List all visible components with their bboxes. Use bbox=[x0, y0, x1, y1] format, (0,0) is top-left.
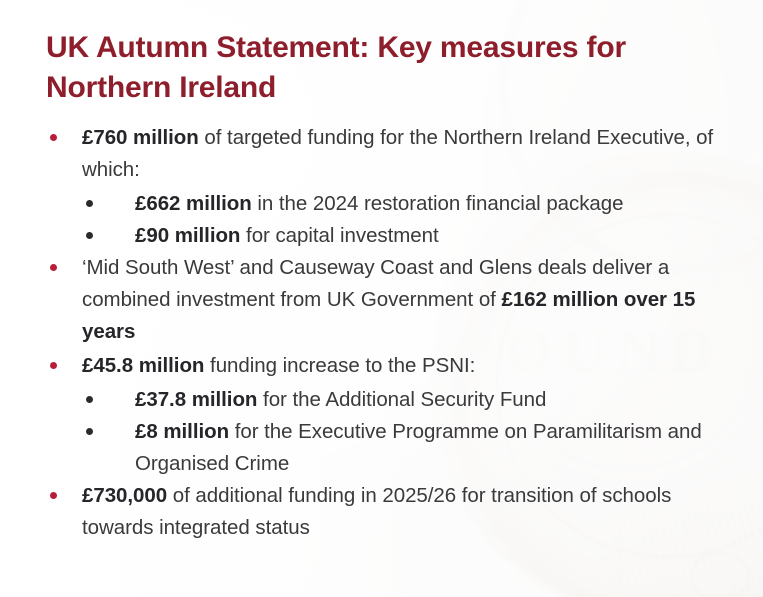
sub-bullet-item-label: £37.8 million for the Additional Securit… bbox=[135, 384, 739, 416]
sub-bullet-item-label: £662 million in the 2024 restoration fin… bbox=[135, 188, 739, 220]
body-text: for the Additional Security Fund bbox=[257, 388, 546, 411]
sub-bullet-item-restoration-financial-package: £662 million in the 2024 restoration fin… bbox=[0, 188, 763, 220]
sub-bullet-item-label: £90 million for capital investment bbox=[135, 220, 739, 252]
bullet-item-label: £760 million of targeted funding for the… bbox=[82, 122, 739, 186]
body-text: for capital investment bbox=[240, 224, 438, 247]
body-text: funding increase to the PSNI: bbox=[204, 354, 475, 377]
emphasis-amount: £90 million bbox=[135, 224, 240, 247]
slide-title: UK Autumn Statement: Key measures for No… bbox=[46, 28, 736, 108]
bullet-item-integrated-schools: £730,000 of additional funding in 2025/2… bbox=[0, 480, 763, 544]
slide-canvas: OUND UK Autumn Statement: Key measures f… bbox=[0, 0, 763, 597]
bullet-item-psni-funding: £45.8 million funding increase to the PS… bbox=[0, 350, 763, 382]
bullet-dot-icon bbox=[50, 264, 57, 271]
bullet-item-label: £45.8 million funding increase to the PS… bbox=[82, 350, 739, 382]
emphasis-amount: £730,000 bbox=[82, 484, 167, 507]
emphasis-amount: £760 million bbox=[82, 126, 199, 149]
bullet-item-growth-deals: ‘Mid South West’ and Causeway Coast and … bbox=[0, 252, 763, 348]
bullet-list: £760 million of targeted funding for the… bbox=[0, 122, 763, 546]
emphasis-amount: £45.8 million bbox=[82, 354, 204, 377]
emphasis-amount: £37.8 million bbox=[135, 388, 257, 411]
sub-bullet-item-executive-programme-paramilitarism: £8 million for the Executive Programme o… bbox=[0, 416, 763, 480]
body-text: in the 2024 restoration financial packag… bbox=[252, 192, 624, 215]
emphasis-amount: £8 million bbox=[135, 420, 229, 443]
bullet-dot-icon bbox=[50, 362, 57, 369]
banknote-ring-icon bbox=[690, 552, 750, 597]
emphasis-amount: £662 million bbox=[135, 192, 252, 215]
bullet-dot-icon bbox=[50, 134, 57, 141]
sub-bullet-item-capital-investment: £90 million for capital investment bbox=[0, 220, 763, 252]
bullet-item-funding-ni-executive: £760 million of targeted funding for the… bbox=[0, 122, 763, 186]
sub-bullet-dot-icon bbox=[86, 396, 93, 403]
sub-bullet-item-label: £8 million for the Executive Programme o… bbox=[135, 416, 739, 480]
bullet-dot-icon bbox=[50, 492, 57, 499]
sub-bullet-dot-icon bbox=[86, 200, 93, 207]
sub-bullet-dot-icon bbox=[86, 232, 93, 239]
bullet-item-label: ‘Mid South West’ and Causeway Coast and … bbox=[82, 252, 739, 348]
sub-bullet-item-additional-security-fund: £37.8 million for the Additional Securit… bbox=[0, 384, 763, 416]
body-text: of additional funding in 2025/26 for tra… bbox=[82, 484, 671, 539]
sub-bullet-dot-icon bbox=[86, 428, 93, 435]
bullet-item-label: £730,000 of additional funding in 2025/2… bbox=[82, 480, 739, 544]
